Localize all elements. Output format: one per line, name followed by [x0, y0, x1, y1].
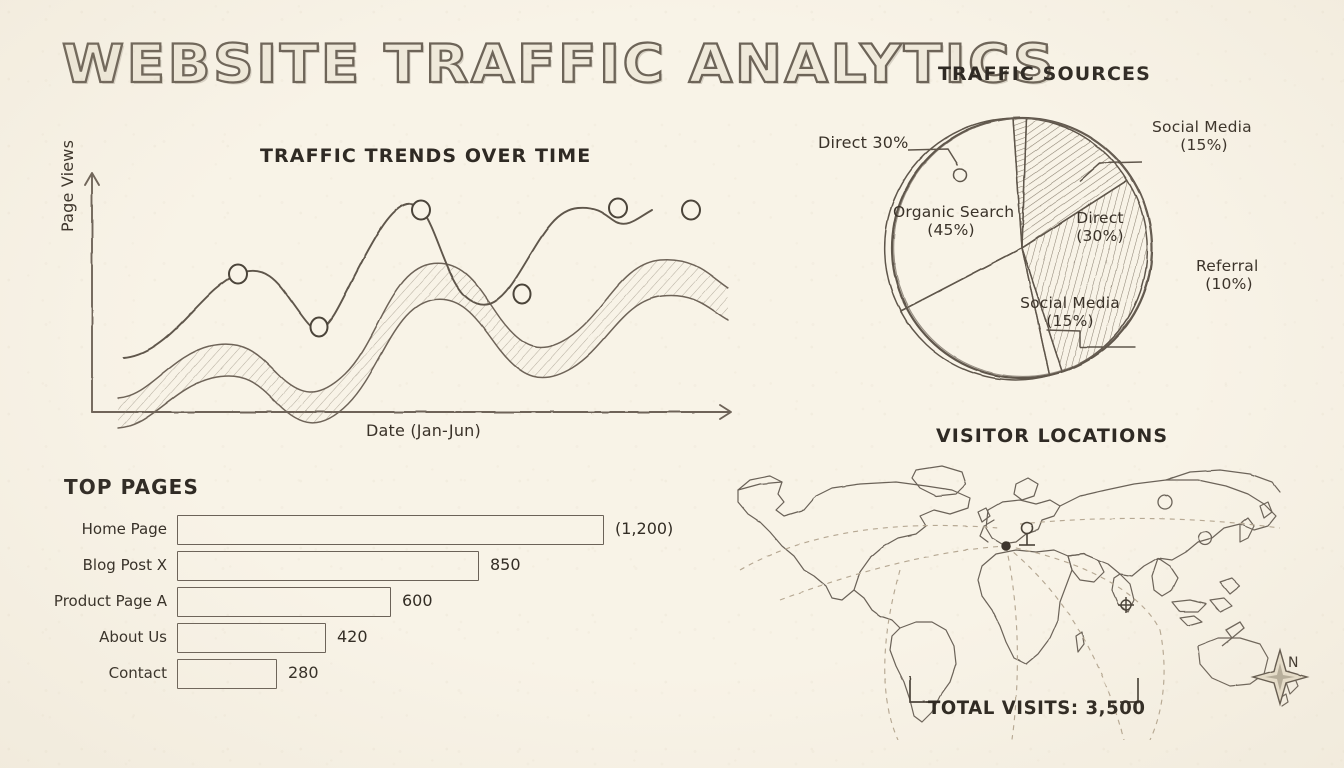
pie-label-social-top-name: Social Media: [1152, 118, 1256, 136]
direct-callout-leader: [908, 149, 967, 182]
map-marker-dot: [1002, 542, 1010, 550]
data-point-marker: [514, 285, 531, 304]
map-location-markers: [1002, 495, 1212, 613]
pie-label-organic: Organic Search (45%): [893, 203, 1009, 239]
data-point-marker: [229, 265, 247, 284]
x-axis-label-text: Date (Jan-Jun): [366, 421, 481, 440]
bar-value-label: 850: [490, 555, 521, 574]
pie-label-direct-name: Direct: [1063, 209, 1137, 227]
line-chart-band: [118, 260, 728, 428]
bar-rect[interactable]: [177, 551, 479, 581]
route-arc: [1020, 518, 1280, 528]
bar-rect[interactable]: [177, 587, 391, 617]
data-point-marker: [682, 201, 700, 220]
data-point-marker: [412, 201, 430, 220]
compass-north-label: N: [1288, 655, 1298, 671]
bar-chart-row: Blog Post X850: [177, 551, 479, 581]
bar-value-label: 600: [402, 591, 433, 610]
pie-chart-title: TRAFFIC SOURCES: [938, 63, 1151, 85]
map-continents: [738, 466, 1298, 722]
bar-chart: Home Page(1,200)Blog Post X850Product Pa…: [60, 505, 700, 695]
line-chart-markers: [229, 199, 700, 337]
map-title: VISITOR LOCATIONS: [936, 425, 1168, 447]
map-marker-ring: [1022, 523, 1033, 534]
pie-label-direct: Direct (30%): [1063, 209, 1137, 245]
line-chart-svg: [60, 160, 760, 450]
route-arc: [1150, 630, 1164, 740]
bar-category-label: About Us: [0, 628, 167, 646]
map-marker-ring: [1199, 532, 1212, 545]
map-title-text: VISITOR LOCATIONS: [936, 425, 1168, 447]
y-axis-label-text: Page Views: [58, 140, 77, 232]
bar-category-label: Contact: [0, 664, 167, 682]
bar-category-label: Home Page: [0, 520, 167, 538]
compass-sketch-mark: [1226, 622, 1244, 638]
bar-category-label: Product Page A: [0, 592, 167, 610]
pie-label-organic-pct: (45%): [893, 221, 1009, 239]
bar-value-label: 280: [288, 663, 319, 682]
total-visits-label: TOTAL VISITS: 3,500: [928, 697, 1145, 719]
pie-label-direct-pct: (30%): [1063, 227, 1137, 245]
pie-label-referral-pct: (10%): [1196, 275, 1262, 293]
route-arc: [780, 546, 1006, 600]
bar-chart-row: Product Page A600: [177, 587, 391, 617]
bar-chart-row: Contact280: [177, 659, 277, 689]
bar-rect[interactable]: [177, 515, 604, 545]
route-arc: [1006, 546, 1160, 630]
pie-label-social-top-pct: (15%): [1152, 136, 1256, 154]
bar-rect[interactable]: [177, 659, 277, 689]
bar-value-label: 420: [337, 627, 368, 646]
bar-category-label: Blog Post X: [0, 556, 167, 574]
map-marker-ring: [1158, 495, 1172, 509]
pie-label-social-top: Social Media (15%): [1152, 118, 1256, 154]
pie-label-organic-name: Organic Search: [893, 203, 1009, 221]
pie-label-referral: Referral (10%): [1196, 257, 1262, 293]
line-chart-x-axis-label: Date (Jan-Jun): [366, 421, 481, 440]
data-point-marker: [609, 199, 627, 218]
pie-label-social-bottom-pct: (15%): [1011, 312, 1129, 330]
bar-chart-title: TOP PAGES: [64, 475, 199, 499]
pie-label-referral-name: Referral: [1196, 257, 1262, 275]
bar-chart-title-text: TOP PAGES: [64, 475, 199, 499]
pie-label-social-bottom-name: Social Media: [1011, 294, 1129, 312]
pie-label-social-bottom: Social Media (15%): [1011, 294, 1129, 330]
pie-callout-direct: Direct 30%: [818, 133, 909, 152]
bar-value-label: (1,200): [615, 519, 673, 538]
bar-rect[interactable]: [177, 623, 326, 653]
pie-callout-direct-text: Direct 30%: [818, 133, 909, 152]
line-chart-y-axis-label: Page Views: [58, 140, 77, 232]
route-arc: [740, 525, 998, 570]
page-title: WEBSITE TRAFFIC ANALYTICS: [62, 34, 1056, 95]
bar-chart-row: Home Page(1,200): [177, 515, 604, 545]
bar-chart-row: About Us420: [177, 623, 326, 653]
pie-chart-title-text: TRAFFIC SOURCES: [938, 63, 1151, 85]
data-point-marker: [311, 318, 328, 337]
line-chart: [60, 160, 760, 450]
compass-sketch-tail: [1222, 638, 1232, 646]
callout-marker-circle: [954, 169, 967, 182]
